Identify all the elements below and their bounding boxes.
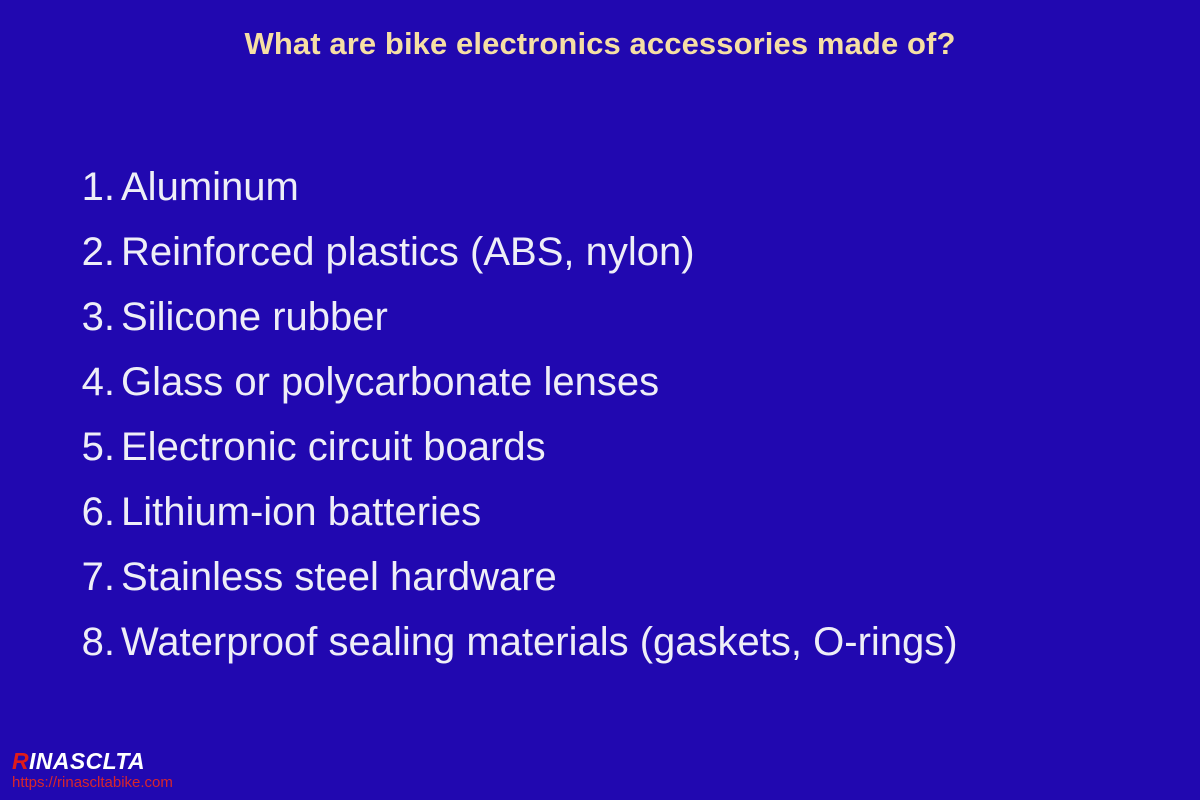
- brand-initial-letter: R: [12, 748, 29, 774]
- slide-canvas: What are bike electronics accessories ma…: [0, 0, 1200, 800]
- list-item-number: 4.: [62, 350, 115, 415]
- list-item: 2. Reinforced plastics (ABS, nylon): [62, 220, 1172, 285]
- brand-watermark: RINASCLTA https://rinascltabike.com: [12, 749, 332, 792]
- list-item: 1. Aluminum: [62, 155, 1172, 220]
- list-item: 3. Silicone rubber: [62, 285, 1172, 350]
- list-item-label: Electronic circuit boards: [115, 415, 546, 480]
- list-item: 6. Lithium-ion batteries: [62, 480, 1172, 545]
- brand-wordmark-text: INASCLTA: [29, 748, 145, 774]
- list-item: 7. Stainless steel hardware: [62, 545, 1172, 610]
- list-item-number: 2.: [62, 220, 115, 285]
- list-item-number: 1.: [62, 155, 115, 220]
- list-item-number: 7.: [62, 545, 115, 610]
- list-item-label: Glass or polycarbonate lenses: [115, 350, 659, 415]
- list-item-label: Waterproof sealing materials (gaskets, O…: [115, 610, 958, 675]
- list-item-number: 3.: [62, 285, 115, 350]
- list-item: 8. Waterproof sealing materials (gaskets…: [62, 610, 1172, 675]
- list-item-label: Reinforced plastics (ABS, nylon): [115, 220, 695, 285]
- list-item: 5. Electronic circuit boards: [62, 415, 1172, 480]
- list-item-label: Lithium-ion batteries: [115, 480, 481, 545]
- rinasclta-logo: RINASCLTA: [12, 749, 332, 773]
- brand-website-url: https://rinascltabike.com: [12, 774, 332, 792]
- list-item-label: Stainless steel hardware: [115, 545, 557, 610]
- page-title: What are bike electronics accessories ma…: [0, 24, 1200, 64]
- list-item-number: 6.: [62, 480, 115, 545]
- list-item: 4. Glass or polycarbonate lenses: [62, 350, 1172, 415]
- list-item-label: Silicone rubber: [115, 285, 388, 350]
- list-item-number: 8.: [62, 610, 115, 675]
- materials-numbered-list: 1. Aluminum 2. Reinforced plastics (ABS,…: [62, 155, 1172, 675]
- list-item-number: 5.: [62, 415, 115, 480]
- list-item-label: Aluminum: [115, 155, 299, 220]
